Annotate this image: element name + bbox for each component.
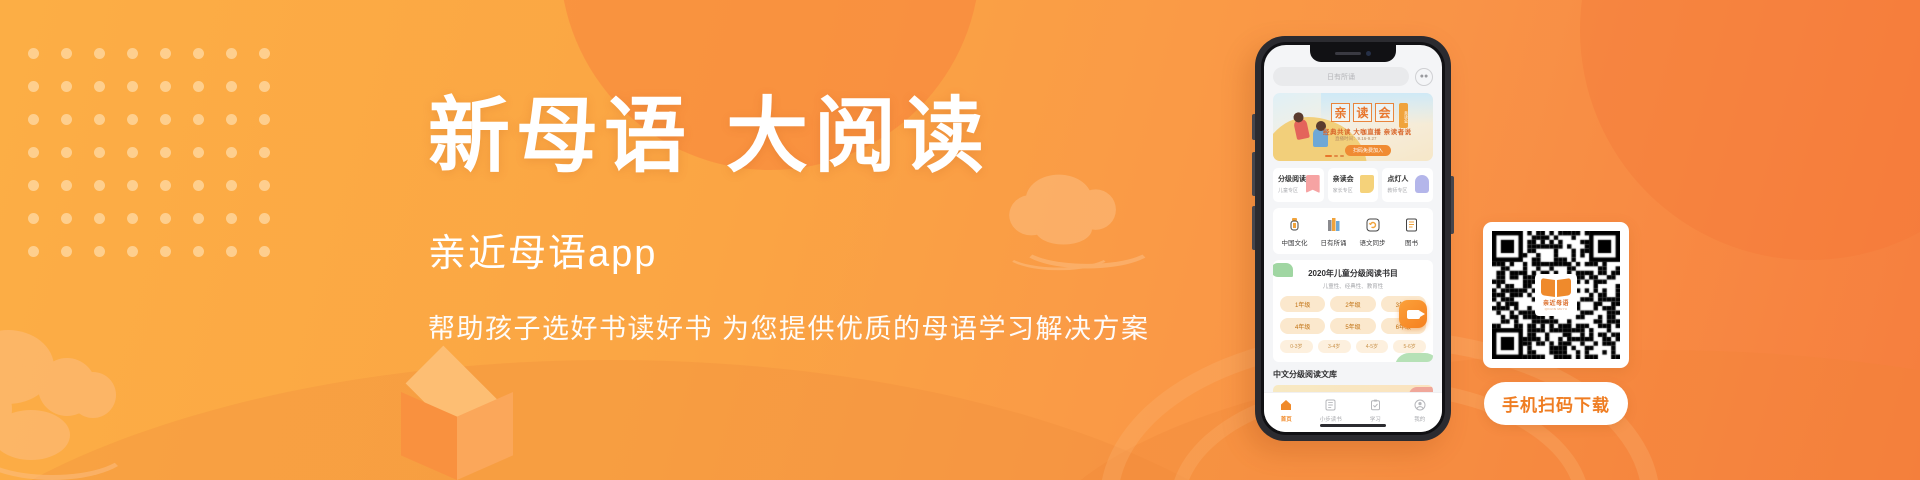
app-name-subhead: 亲近母语app xyxy=(428,222,1188,277)
promo-date: 直播时间：9.16-9.27 xyxy=(1335,136,1377,142)
promo-title: 亲 读 会 亲读会 xyxy=(1331,103,1408,128)
book-icon xyxy=(1392,216,1431,233)
tab-label: 学习 xyxy=(1353,415,1398,423)
qr-code-image: 亲近母语 QINJIN MUYU xyxy=(1492,231,1620,359)
leaf-decoration-top xyxy=(1273,263,1293,277)
entry-card-1[interactable]: 分级阅读儿童专区 xyxy=(1273,168,1324,202)
search-input[interactable]: 日有所诵 xyxy=(1273,67,1409,86)
promo-char-3: 会 xyxy=(1375,103,1394,122)
booklist-subtitle: 儿童性、经典性、教育性 xyxy=(1280,282,1426,290)
library-title: 中文分级阅读文库 xyxy=(1273,369,1433,380)
phone-front-camera xyxy=(1366,51,1371,56)
phone-power-button xyxy=(1451,176,1454,234)
phone-speaker xyxy=(1335,52,1361,55)
entry-card-2[interactable]: 亲读会家长专区 xyxy=(1328,168,1379,202)
quick-nav-label: 图书 xyxy=(1392,237,1431,247)
quick-nav-item[interactable]: 中国文化 xyxy=(1275,216,1314,247)
quick-nav-item[interactable]: 图书 xyxy=(1392,216,1431,247)
logo-text: 亲近母语 xyxy=(1543,298,1569,307)
entry-card-shape xyxy=(1360,175,1374,193)
promo-banner: 新母语大阅读 亲近母语app 帮助孩子选好书读好书 为您提供优质的母语学习解决方… xyxy=(0,0,1920,480)
isometric-cube-decoration xyxy=(392,365,522,480)
background-circle-top-right xyxy=(1580,0,1920,260)
copy-block: 新母语大阅读 亲近母语app 帮助孩子选好书读好书 为您提供优质的母语学习解决方… xyxy=(428,96,1188,346)
promo-char-2: 读 xyxy=(1353,103,1372,122)
dot-grid-decoration xyxy=(28,48,292,279)
grade-chip[interactable]: 5年级 xyxy=(1330,318,1375,334)
grade-chip[interactable]: 4年级 xyxy=(1280,318,1325,334)
headline-part-1: 新母语 xyxy=(428,91,692,182)
entry-cards: 分级阅读儿童专区亲读会家长专区点灯人教师专区 xyxy=(1273,168,1433,202)
auspicious-cloud-left-icon xyxy=(0,320,252,480)
quick-nav-label: 日有所诵 xyxy=(1314,237,1353,247)
promo-char-1: 亲 xyxy=(1331,103,1350,122)
book-list-icon xyxy=(1309,398,1354,412)
age-chips-row: 0-3岁3-4岁4-5岁5-6岁 xyxy=(1280,340,1426,353)
entry-card-shape xyxy=(1415,175,1429,193)
qr-download-block: 亲近母语 QINJIN MUYU 手机扫码下载 xyxy=(1483,222,1629,425)
grade-chip[interactable]: 1年级 xyxy=(1280,296,1325,312)
phone-mockup: 日有所诵 ●● 亲 读 会 亲读会 xyxy=(1255,36,1451,441)
quick-nav-item[interactable]: 日有所诵 xyxy=(1314,216,1353,247)
quick-nav-item[interactable]: 语文同步 xyxy=(1353,216,1392,247)
phone-mute-switch xyxy=(1252,114,1255,140)
quick-nav-grid: 中国文化日有所诵语文同步图书 xyxy=(1273,208,1433,254)
promo-vertical-tag: 亲读会 xyxy=(1399,103,1408,128)
headline-part-2: 大阅读 xyxy=(726,91,990,182)
promo-cta-button[interactable]: 扫码免费加入 xyxy=(1345,145,1391,156)
phone-notch xyxy=(1310,45,1396,62)
sync-icon xyxy=(1353,216,1392,233)
logo-pinyin: QINJIN MUYU xyxy=(1545,307,1568,311)
tab-user[interactable]: 我的 xyxy=(1398,398,1443,423)
grade-chip[interactable]: 4-5岁 xyxy=(1356,340,1389,353)
home-indicator xyxy=(1320,424,1386,427)
grade-chip[interactable]: 0-3岁 xyxy=(1280,340,1313,353)
promo-carousel-dots[interactable] xyxy=(1325,155,1344,157)
books-icon xyxy=(1314,216,1353,233)
video-play-icon[interactable] xyxy=(1399,300,1427,328)
message-icon[interactable]: ●● xyxy=(1415,68,1433,86)
tagline-text: 帮助孩子选好书读好书 为您提供优质的母语学习解决方案 xyxy=(428,307,1188,346)
tab-label: 小步读书 xyxy=(1309,415,1354,423)
phone-volume-up-button xyxy=(1252,152,1255,196)
tab-label: 我的 xyxy=(1398,415,1443,423)
phone-bezel: 日有所诵 ●● 亲 读 会 亲读会 xyxy=(1261,42,1445,435)
qr-code-card: 亲近母语 QINJIN MUYU xyxy=(1483,222,1629,368)
grade-chip[interactable]: 5-6岁 xyxy=(1393,340,1426,353)
promo-card[interactable]: 亲 读 会 亲读会 经典共读 大咖直播 亲读者说 直播时间：9.16-9.27 … xyxy=(1273,93,1433,161)
app-search-bar[interactable]: 日有所诵 ●● xyxy=(1273,67,1433,86)
page-title: 新母语大阅读 xyxy=(428,96,1188,178)
phone-volume-down-button xyxy=(1252,206,1255,250)
grade-chip[interactable]: 2年级 xyxy=(1330,296,1375,312)
clipboard-icon xyxy=(1353,398,1398,412)
brand-logo-icon: 亲近母语 QINJIN MUYU xyxy=(1535,274,1577,316)
tab-home[interactable]: 首页 xyxy=(1264,398,1309,423)
booklist-title: 2020年儿童分级阅读书目 xyxy=(1280,268,1426,279)
booklist-card: 2020年儿童分级阅读书目 儿童性、经典性、教育性 1年级2年级3年级 4年级5… xyxy=(1273,260,1433,362)
tab-clipboard[interactable]: 学习 xyxy=(1353,398,1398,423)
grade-chip[interactable]: 3-4岁 xyxy=(1318,340,1351,353)
user-icon xyxy=(1398,398,1443,412)
leaf-decoration-bottom xyxy=(1395,353,1433,362)
tab-label: 首页 xyxy=(1264,415,1309,423)
download-button[interactable]: 手机扫码下载 xyxy=(1484,382,1628,425)
home-icon xyxy=(1264,398,1309,412)
lantern-icon xyxy=(1275,216,1314,233)
entry-card-3[interactable]: 点灯人教师专区 xyxy=(1382,168,1433,202)
quick-nav-label: 中国文化 xyxy=(1275,237,1314,247)
tab-book-list[interactable]: 小步读书 xyxy=(1309,398,1354,423)
phone-screen: 日有所诵 ●● 亲 读 会 亲读会 xyxy=(1264,45,1442,432)
quick-nav-label: 语文同步 xyxy=(1353,237,1392,247)
promo-subtitle: 经典共读 大咖直播 亲读者说 xyxy=(1323,126,1412,136)
